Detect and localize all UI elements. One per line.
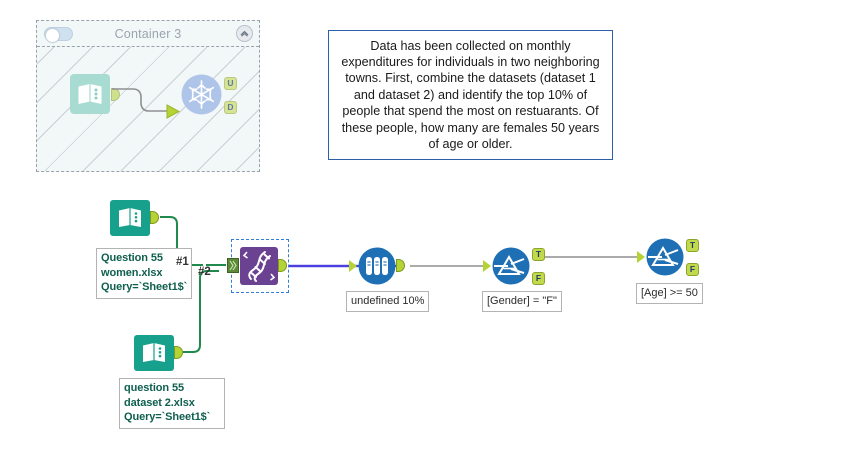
filter-tool-age[interactable]: T F — [646, 238, 684, 276]
input-data-label-2[interactable]: question 55 dataset 2.xlsx Query=`Sheet1… — [119, 378, 225, 429]
anchor-label-true[interactable]: T — [532, 248, 545, 261]
anchor-label-false[interactable]: F — [532, 272, 545, 285]
container-title: Container 3 — [115, 27, 182, 41]
container-header: Container 3 — [37, 21, 259, 47]
join-input-anchor[interactable] — [227, 258, 239, 273]
filter-gender-label[interactable]: [Gender] = "F" — [482, 291, 562, 312]
filter-age-label[interactable]: [Age] >= 50 — [636, 283, 703, 304]
container-wire — [37, 47, 259, 171]
filter-tool-gender[interactable]: T F — [492, 247, 530, 285]
container-enable-toggle[interactable] — [44, 27, 73, 41]
sample-tool-label[interactable]: undefined 10% — [346, 291, 429, 312]
connection-label-1: #1 — [176, 256, 189, 268]
anchor-label-true[interactable]: T — [686, 239, 699, 252]
output-anchor[interactable] — [150, 211, 159, 224]
join-multiple-tool[interactable] — [240, 247, 278, 285]
anchor-label-false[interactable]: F — [686, 263, 699, 276]
comment-annotation[interactable]: Data has been collected on monthly expen… — [328, 30, 613, 160]
tool-container[interactable]: Container 3 — [36, 20, 260, 172]
output-anchor[interactable] — [396, 259, 405, 272]
chevron-up-icon[interactable] — [236, 25, 253, 42]
input-anchor[interactable] — [349, 260, 357, 272]
comment-text: Data has been collected on monthly expen… — [329, 38, 612, 153]
connection-label-2: #2 — [198, 266, 211, 278]
output-anchor[interactable] — [174, 346, 183, 359]
input-anchor[interactable] — [483, 260, 491, 272]
input-data-tool-2[interactable] — [134, 335, 174, 371]
workflow-canvas[interactable]: Container 3 — [0, 0, 853, 452]
container-body[interactable]: U D — [37, 47, 259, 171]
input-data-tool-1[interactable] — [110, 200, 150, 236]
sample-tool[interactable] — [358, 247, 396, 285]
input-anchor[interactable] — [637, 251, 645, 263]
